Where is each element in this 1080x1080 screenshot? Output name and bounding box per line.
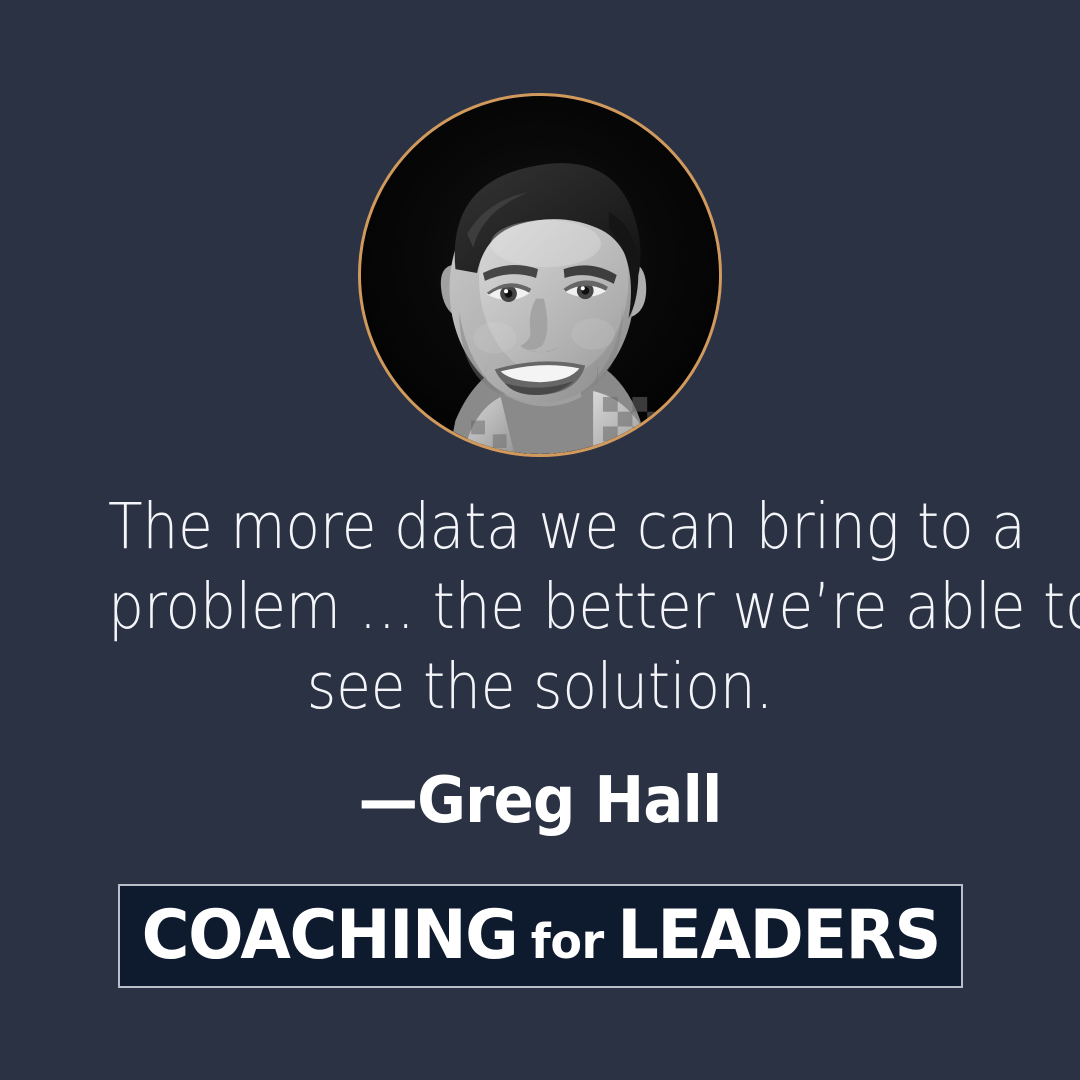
brand-word-for: for	[517, 918, 617, 966]
quote-line-3: see the solution.	[108, 647, 972, 727]
quote-line-2: problem … the better we’re able to	[108, 567, 972, 647]
quote-line-1: The more data we can bring to a	[108, 487, 972, 567]
quote-attribution: —Greg Hall	[94, 758, 987, 844]
avatar	[358, 93, 722, 457]
avatar-photo	[361, 96, 719, 454]
brand-logo-bar: COACHING for LEADERS	[118, 884, 963, 988]
brand-logo-text: COACHING for LEADERS	[141, 902, 939, 970]
quote-text: The more data we can bring to a problem …	[108, 487, 972, 727]
brand-word-coaching: COACHING	[141, 902, 517, 970]
brand-word-leaders: LEADERS	[617, 902, 940, 970]
quote-card: The more data we can bring to a problem …	[0, 0, 1080, 1080]
